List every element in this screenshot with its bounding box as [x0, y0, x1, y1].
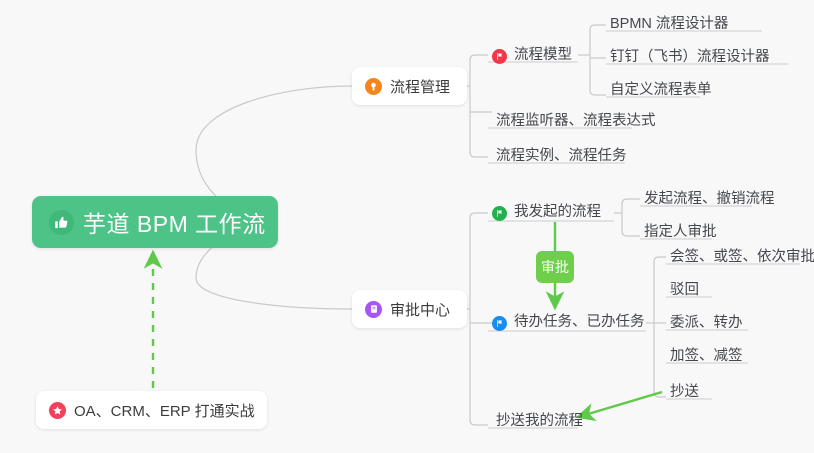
approval-highlight-tag[interactable]: 审批	[536, 251, 574, 283]
leaf-cc-to-me[interactable]: 抄送我的流程	[492, 406, 587, 432]
leaf-dingtalk-designer[interactable]: 钉钉（飞书）流程设计器	[606, 42, 774, 68]
leaf-cc[interactable]: 抄送	[666, 377, 703, 403]
node-label: 待办任务、已办任务	[507, 310, 649, 336]
callout-label: OA、CRM、ERP 打通实战	[74, 400, 255, 421]
integration-callout[interactable]: OA、CRM、ERP 打通实战	[36, 391, 267, 429]
leaf-custom-form[interactable]: 自定义流程表单	[606, 75, 716, 101]
branch-label: 审批中心	[390, 299, 450, 320]
bulb-pin-icon	[365, 78, 382, 95]
branch-process-management[interactable]: 流程管理	[352, 67, 467, 105]
node-my-started-process[interactable]: 我发起的流程	[492, 200, 605, 226]
leaf-start-cancel-process[interactable]: 发起流程、撤销流程	[640, 184, 779, 210]
clipboard-icon	[365, 301, 382, 318]
node-label: 流程模型	[507, 43, 576, 69]
leaf-countersign[interactable]: 会签、或签、依次审批	[666, 242, 814, 268]
node-label: 我发起的流程	[507, 200, 605, 226]
leaf-instance-task[interactable]: 流程实例、流程任务	[492, 141, 631, 167]
leaf-delegate-transfer[interactable]: 委派、转办	[666, 308, 747, 334]
leaf-reject[interactable]: 驳回	[666, 275, 703, 301]
leaf-listener-expression[interactable]: 流程监听器、流程表达式	[492, 106, 660, 132]
star-icon	[49, 402, 66, 419]
root-label: 芋道 BPM 工作流	[83, 205, 266, 239]
node-todo-done-tasks[interactable]: 待办任务、已办任务	[492, 310, 649, 336]
cc-flow-arrow	[578, 392, 662, 417]
flag-icon	[492, 206, 507, 221]
node-process-model[interactable]: 流程模型	[492, 43, 576, 69]
branch-label: 流程管理	[390, 76, 450, 97]
leaf-assignee-approval[interactable]: 指定人审批	[640, 217, 721, 243]
flag-icon	[492, 49, 507, 64]
tag-label: 审批	[541, 257, 569, 277]
leaf-bpmn-designer[interactable]: BPMN 流程设计器	[606, 9, 732, 35]
flag-icon	[492, 316, 507, 331]
mindmap-canvas: 芋道 BPM 工作流 流程管理 流程模型 BPMN 流程设计器 钉钉（飞书）流程…	[0, 0, 814, 453]
leaf-add-remove-sign[interactable]: 加签、减签	[666, 341, 747, 367]
thumbs-up-icon	[49, 210, 74, 235]
root-node[interactable]: 芋道 BPM 工作流	[32, 196, 278, 248]
branch-approval-center[interactable]: 审批中心	[352, 290, 467, 328]
